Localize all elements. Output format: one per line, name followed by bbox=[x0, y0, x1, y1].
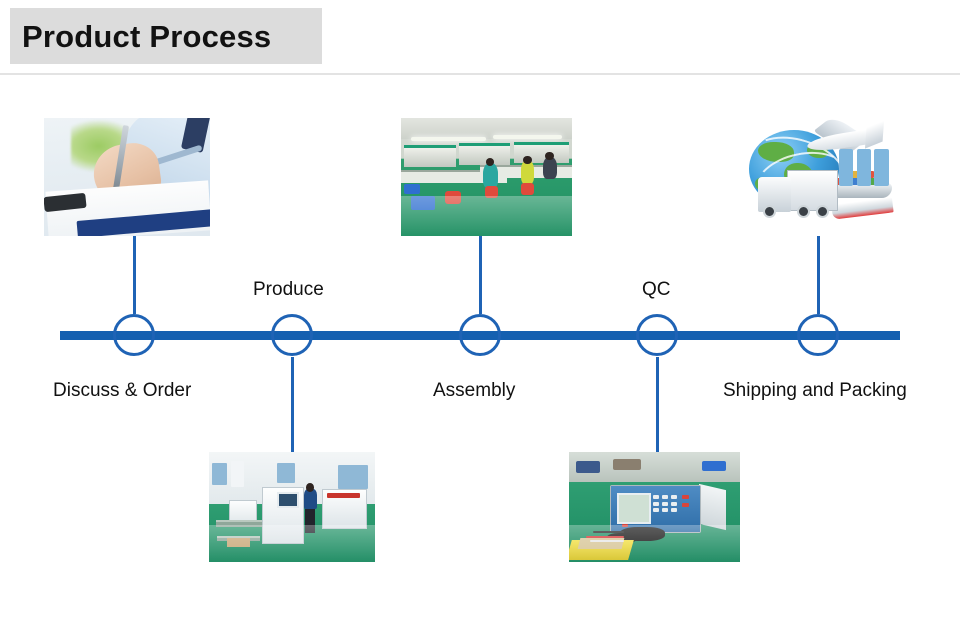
header-divider bbox=[0, 73, 960, 75]
stage-label-assembly: Assembly bbox=[433, 381, 515, 400]
stage-label-shipping: Shipping and Packing bbox=[723, 381, 907, 400]
connector-node-3 bbox=[479, 236, 482, 314]
stage-label-qc: QC bbox=[642, 280, 671, 299]
timeline-node-produce[interactable] bbox=[271, 314, 313, 356]
stage-label-produce: Produce bbox=[253, 280, 324, 299]
connector-node-4 bbox=[656, 357, 659, 452]
timeline-node-discuss-order[interactable] bbox=[113, 314, 155, 356]
connector-node-5 bbox=[817, 236, 820, 314]
timeline-node-shipping[interactable] bbox=[797, 314, 839, 356]
contract-signing-photo bbox=[44, 118, 210, 236]
page-title: Product Process bbox=[10, 21, 271, 52]
timeline-node-assembly[interactable] bbox=[459, 314, 501, 356]
connector-node-1 bbox=[133, 236, 136, 314]
qc-test-equipment-photo bbox=[569, 452, 740, 562]
header-band: Product Process bbox=[10, 8, 322, 64]
production-workshop-photo bbox=[209, 452, 375, 562]
stage-label-discuss-order: Discuss & Order bbox=[53, 381, 191, 400]
connector-node-2 bbox=[291, 357, 294, 452]
assembly-line-photo bbox=[401, 118, 572, 236]
timeline-node-qc[interactable] bbox=[636, 314, 678, 356]
global-logistics-photo bbox=[739, 118, 900, 236]
